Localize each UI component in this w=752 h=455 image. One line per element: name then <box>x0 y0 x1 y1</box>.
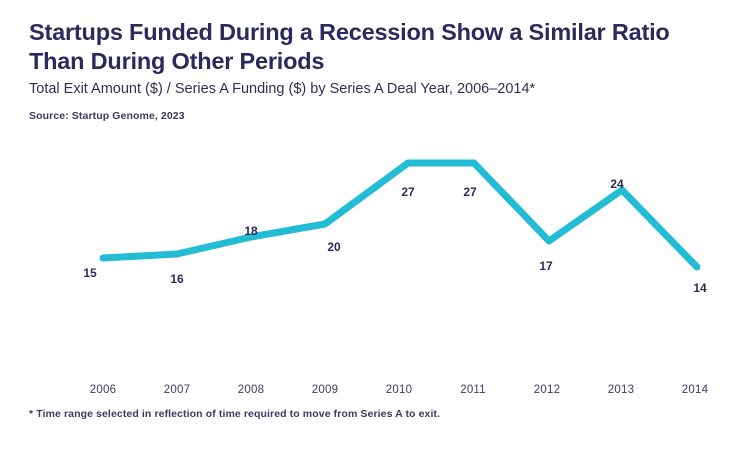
x-axis-tick-2008: 2008 <box>238 384 264 396</box>
chart-footnote: * Time range selected in reflection of t… <box>29 408 440 420</box>
chart-figure: Startups Funded During a Recession Show … <box>0 0 752 455</box>
value-label: 15 <box>83 266 96 280</box>
chart-source: Source: Startup Genome, 2023 <box>29 110 185 122</box>
x-axis-tick-2010: 2010 <box>386 384 412 396</box>
x-axis-tick-2011: 2011 <box>460 384 486 396</box>
x-axis-tick-2007: 2007 <box>164 384 190 396</box>
value-label: 18 <box>244 224 257 238</box>
value-label: 16 <box>170 272 183 286</box>
value-label: 17 <box>539 259 552 273</box>
series-line <box>103 163 697 267</box>
x-axis-tick-2006: 2006 <box>90 384 116 396</box>
x-axis-tick-2012: 2012 <box>534 384 560 396</box>
value-label: 27 <box>463 185 476 199</box>
x-axis-tick-2009: 2009 <box>312 384 338 396</box>
value-label: 20 <box>327 240 340 254</box>
value-label: 27 <box>401 185 414 199</box>
chart-subtitle: Total Exit Amount ($) / Series A Funding… <box>29 80 729 98</box>
chart-title: Startups Funded During a Recession Show … <box>29 18 729 76</box>
x-axis-tick-2014: 2014 <box>682 384 708 396</box>
value-label: 14 <box>693 281 706 295</box>
x-axis-tick-2013: 2013 <box>608 384 634 396</box>
value-label: 24 <box>610 177 623 191</box>
